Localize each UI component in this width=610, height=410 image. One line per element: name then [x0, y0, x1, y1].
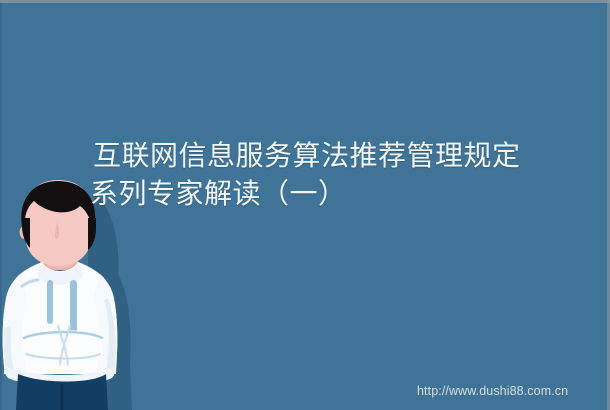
- watermark-url: http://www.dushi88.com.cn: [417, 383, 568, 399]
- drawstring-right: [70, 280, 77, 336]
- hair-sideburn-left: [22, 218, 30, 248]
- drawstring-left: [47, 280, 53, 324]
- top-edge-border: [0, 0, 610, 3]
- cover-title: 互联网信息服务算法推荐管理规定 系列专家解读（一）: [93, 137, 563, 213]
- title-line-2: 系列专家解读（一）: [90, 175, 563, 213]
- cover-image: 互联网信息服务算法推荐管理规定 系列专家解读（一） http://www.dus…: [0, 0, 610, 410]
- title-line-1: 互联网信息服务算法推荐管理规定: [93, 137, 563, 175]
